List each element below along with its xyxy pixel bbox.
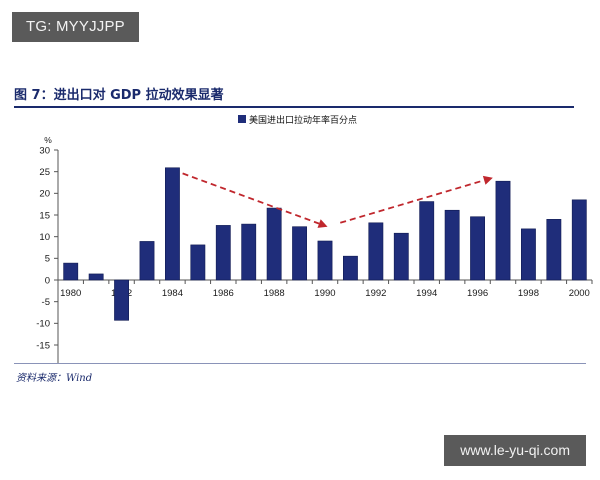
bar-2000: [572, 200, 586, 280]
chart-legend: 美国进出口拉动年率百分点: [238, 114, 357, 126]
y-axis-tick-label: 30: [39, 145, 50, 156]
bar-1991: [343, 256, 357, 280]
bar-1984: [165, 168, 179, 280]
x-axis-tick-label: 1990: [314, 288, 335, 299]
declining-trend-arrow-line: [183, 173, 319, 223]
x-axis-tick-label: 1986: [213, 288, 234, 299]
bar-1989: [292, 227, 306, 280]
x-axis: 1980198219841986198819901992199419961998…: [58, 280, 592, 299]
source-divider: [14, 363, 586, 364]
y-axis-tick-label: -10: [36, 319, 50, 330]
bar-1985: [191, 245, 205, 280]
y-axis-tick-label: 0: [45, 275, 50, 286]
y-axis-tick-label: 25: [39, 167, 50, 178]
bar-1992: [369, 223, 383, 280]
bar-chart: 美国进出口拉动年率百分点 302520151050-5-10-15% 19801…: [0, 104, 600, 364]
x-axis-tick-label: 1988: [264, 288, 285, 299]
legend-label: 美国进出口拉动年率百分点: [249, 114, 357, 126]
y-axis-tick-label: 10: [39, 232, 50, 243]
x-axis-tick-label: 1992: [365, 288, 386, 299]
bar-1981: [89, 274, 103, 280]
y-axis-tick-label: 5: [45, 254, 50, 265]
bar-1995: [445, 210, 459, 280]
telegram-handle-badge: TG: MYYJJPP: [12, 12, 139, 42]
x-axis-tick-label: 1994: [416, 288, 437, 299]
x-axis-tick-label: 1996: [467, 288, 488, 299]
bar-1997: [496, 181, 510, 280]
bar-1990: [318, 241, 332, 280]
y-axis-tick-label: -5: [42, 297, 50, 308]
y-axis-tick-label: 15: [39, 210, 50, 221]
source-note: 资料来源：Wind: [16, 369, 92, 384]
bar-1998: [521, 229, 535, 280]
bar-1988: [267, 208, 281, 280]
bar-1983: [140, 241, 154, 280]
x-axis-tick-label: 1998: [518, 288, 539, 299]
x-axis-tick-label: 2000: [569, 288, 590, 299]
bar-1987: [242, 224, 256, 280]
rising-trend-arrow-head: [483, 176, 493, 185]
bar-1982: [114, 280, 128, 320]
bar-1996: [470, 217, 484, 280]
y-axis-unit-label: %: [44, 135, 52, 145]
bar-1986: [216, 225, 230, 280]
x-axis-tick-label: 1980: [60, 288, 81, 299]
y-axis: 302520151050-5-10-15%: [36, 135, 58, 364]
bar-1980: [64, 263, 78, 280]
page-title: 图 7：进出口对 GDP 拉动效果显著: [14, 84, 574, 106]
site-watermark: www.le-yu-qi.com: [444, 435, 586, 466]
bar-1999: [547, 219, 561, 280]
y-axis-tick-label: 20: [39, 189, 50, 200]
bar-1993: [394, 233, 408, 280]
chart-canvas: 美国进出口拉动年率百分点 302520151050-5-10-15% 19801…: [0, 104, 600, 364]
legend-swatch: [238, 115, 246, 123]
y-axis-tick-label: -15: [36, 340, 50, 351]
rising-trend-arrow-line: [340, 180, 484, 223]
x-axis-tick-label: 1984: [162, 288, 183, 299]
bar-1994: [420, 202, 434, 280]
